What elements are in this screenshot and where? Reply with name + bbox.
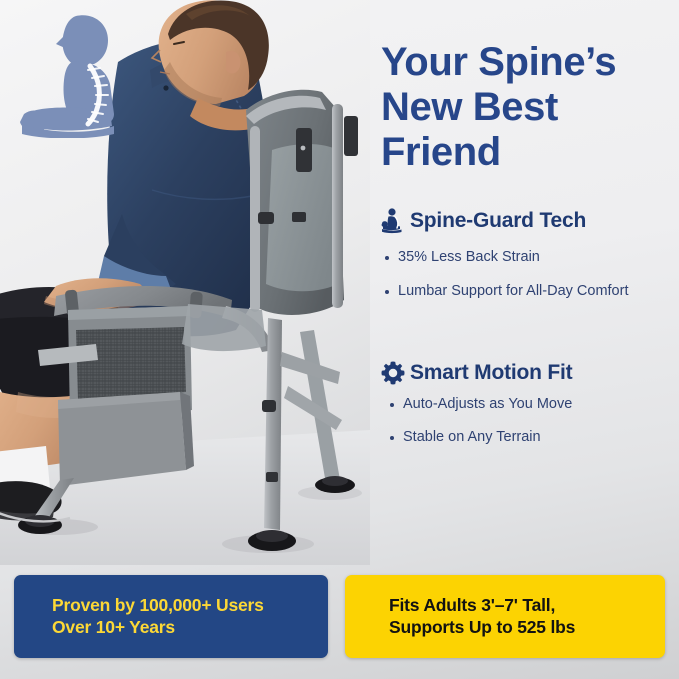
feature-smart-motion-fit: Smart Motion Fit Auto-Adjusts as You Mov… bbox=[381, 360, 677, 460]
feature-bullet: Stable on Any Terrain bbox=[381, 428, 677, 448]
feature-bullet-list: Auto-Adjusts as You Move Stable on Any T… bbox=[381, 395, 677, 447]
feature-heading: Smart Motion Fit bbox=[381, 360, 677, 386]
feature-title: Spine-Guard Tech bbox=[410, 209, 586, 233]
feature-spine-guard-tech: Spine-Guard Tech 35% Less Back Strain Lu… bbox=[381, 208, 677, 315]
proven-badge-text: Proven by 100,000+ Users Over 10+ Years bbox=[52, 595, 264, 638]
headline-line-3: Friend bbox=[381, 130, 501, 174]
spine-posture-icon bbox=[381, 208, 405, 234]
feature-heading: Spine-Guard Tech bbox=[381, 208, 677, 234]
seated-person-spine-icon bbox=[14, 10, 126, 138]
feature-bullet: Auto-Adjusts as You Move bbox=[381, 395, 677, 415]
fit-badge-text: Fits Adults 3'–7' Tall, Supports Up to 5… bbox=[389, 595, 575, 638]
feature-bullet: 35% Less Back Strain bbox=[381, 248, 677, 268]
proven-badge: Proven by 100,000+ Users Over 10+ Years bbox=[14, 575, 328, 658]
headline-line-1: Your Spine’s bbox=[381, 40, 616, 84]
feature-title: Smart Motion Fit bbox=[410, 361, 572, 385]
info-column: Your Spine’s New Best Friend Spine-Guard bbox=[381, 0, 679, 565]
feature-bullet-list: 35% Less Back Strain Lumbar Support for … bbox=[381, 248, 677, 301]
gear-icon bbox=[381, 360, 405, 386]
headline-line-2: New Best bbox=[381, 85, 558, 129]
fit-badge: Fits Adults 3'–7' Tall, Supports Up to 5… bbox=[345, 575, 665, 658]
feature-bullet: Lumbar Support for All-Day Comfort bbox=[381, 282, 677, 302]
page-title: Your Spine’s New Best Friend bbox=[381, 40, 677, 174]
badge-row: Proven by 100,000+ Users Over 10+ Years … bbox=[0, 565, 679, 679]
